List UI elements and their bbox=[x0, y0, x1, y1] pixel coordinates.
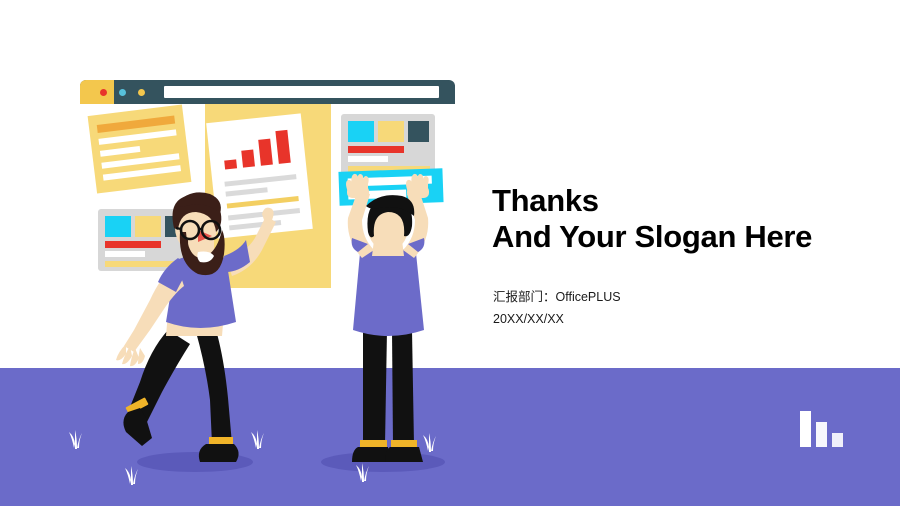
logo-bar bbox=[800, 411, 811, 447]
right-person-hand-right bbox=[406, 174, 429, 198]
left-person-shoe-front bbox=[199, 444, 239, 462]
bearded-man-pointing bbox=[116, 192, 276, 462]
right-person-sock bbox=[391, 440, 417, 447]
date-line: 20XX/XX/XX bbox=[493, 308, 621, 330]
right-person-hand-left bbox=[346, 174, 369, 198]
meta-block: 汇报部门：OfficePLUS 20XX/XX/XX bbox=[493, 286, 621, 330]
logo-bar bbox=[832, 433, 843, 447]
left-person-leg-front bbox=[196, 330, 232, 444]
right-person-shoe bbox=[352, 447, 390, 462]
glasses-temple-icon bbox=[176, 228, 181, 229]
slide-canvas: Thanks And Your Slogan Here 汇报部门：OfficeP… bbox=[0, 0, 900, 506]
left-person-sock bbox=[209, 437, 233, 445]
right-person-shoe bbox=[386, 447, 423, 462]
grass-tuft bbox=[125, 466, 138, 485]
logo-bar bbox=[816, 422, 827, 447]
headline-text: Thanks And Your Slogan Here bbox=[492, 183, 812, 255]
characters-layer bbox=[0, 0, 520, 506]
department-line: 汇报部门：OfficePLUS bbox=[493, 286, 621, 308]
grass-tuft bbox=[423, 433, 436, 452]
right-person-shirt bbox=[353, 248, 424, 336]
grass-tuft bbox=[69, 430, 82, 449]
grass-tuft bbox=[251, 430, 264, 449]
right-person-leg-right bbox=[392, 330, 414, 445]
person-holding-banner bbox=[346, 174, 429, 462]
bar-chart-logo bbox=[800, 405, 844, 447]
right-person-sock bbox=[360, 440, 387, 447]
right-person-leg-left bbox=[363, 330, 387, 445]
illustration-group bbox=[0, 0, 520, 506]
